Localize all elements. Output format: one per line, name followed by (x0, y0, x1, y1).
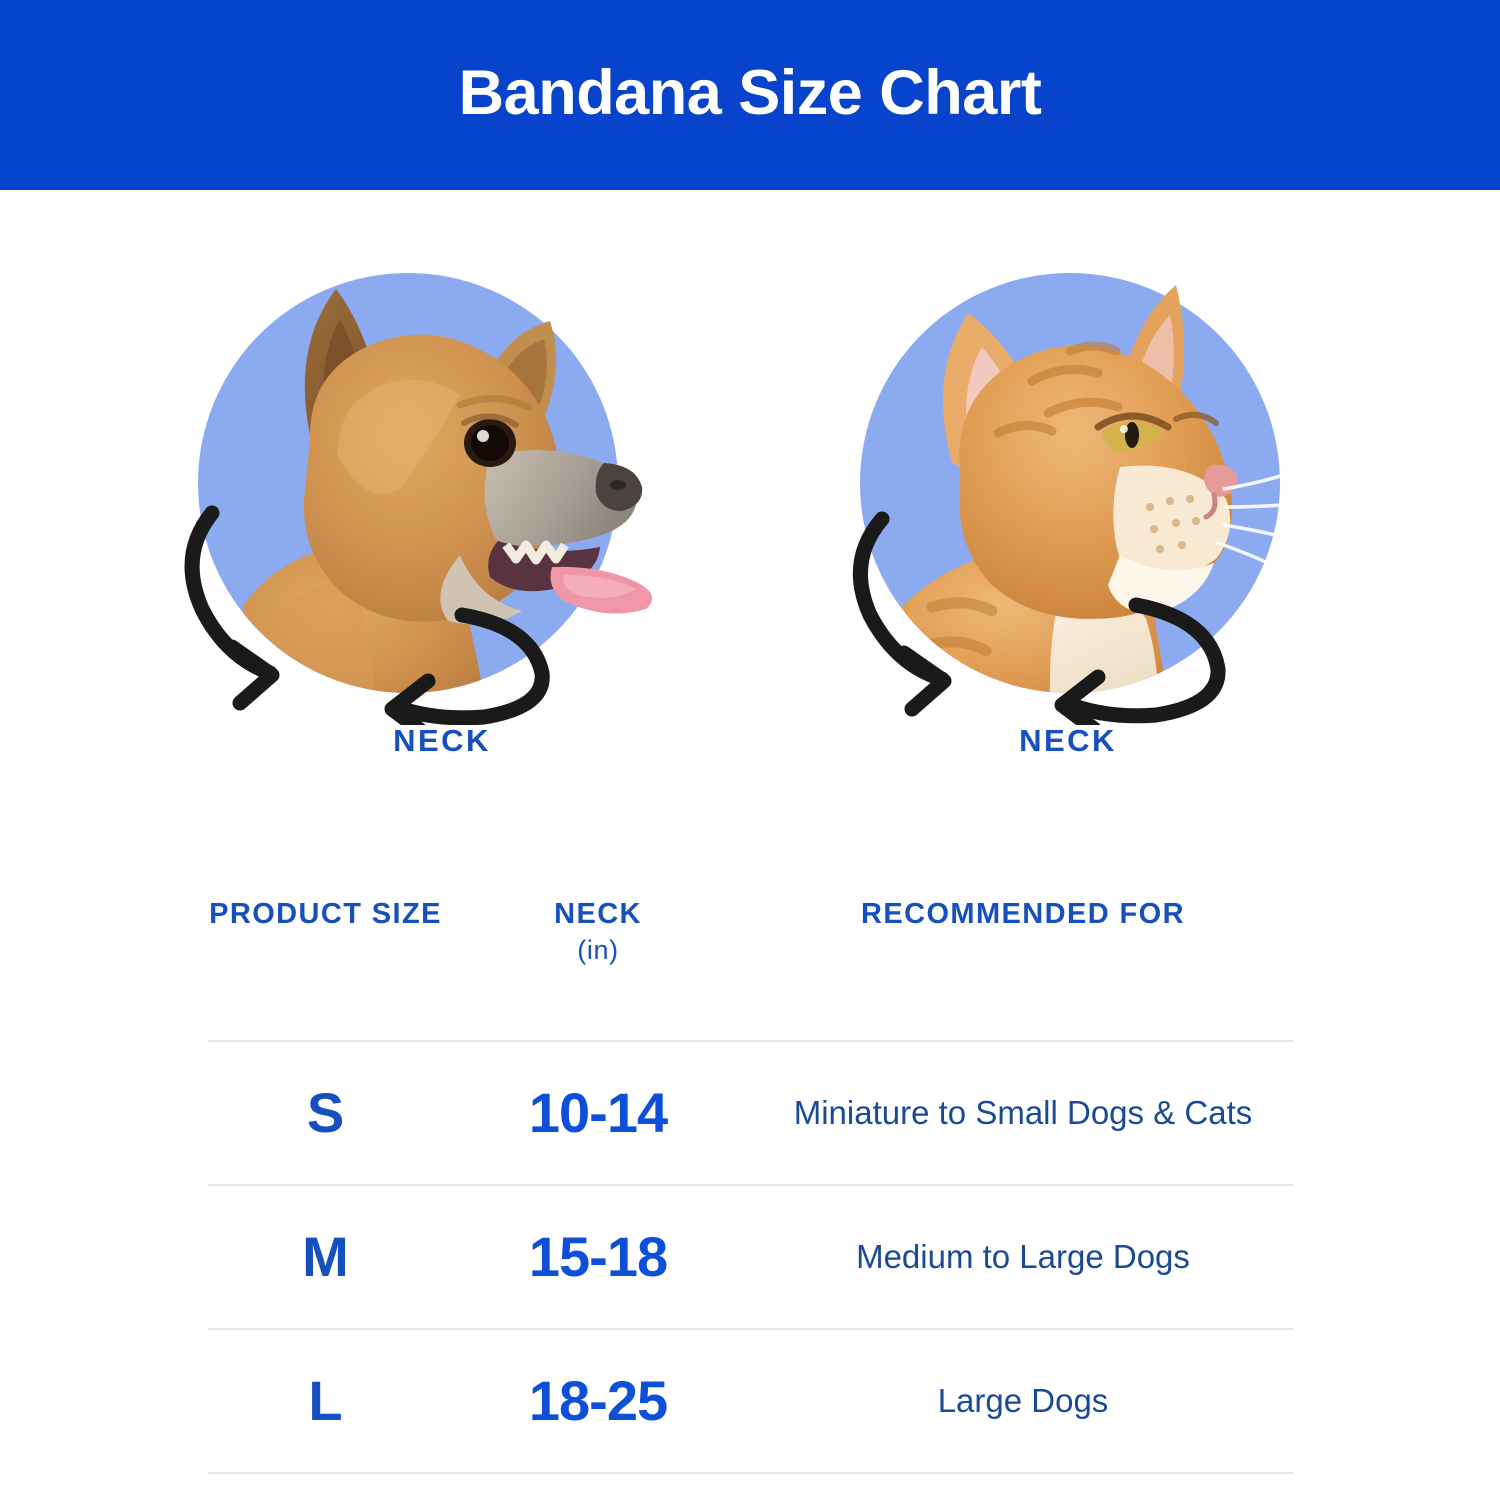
cat-head-profile-icon (820, 255, 1340, 725)
table-row: S 10-14 Miniature to Small Dogs & Cats (208, 1042, 1293, 1184)
table-header-row: PRODUCT SIZE NECK (in) RECOMMENDED FOR (208, 890, 1293, 1040)
header-banner: Bandana Size Chart (0, 0, 1500, 190)
cell-product-size: M (208, 1229, 443, 1285)
value-product-size: S (307, 1085, 344, 1141)
header-label-product-size: PRODUCT SIZE (209, 896, 442, 933)
value-recommended-for: Miniature to Small Dogs & Cats (776, 1092, 1271, 1135)
header-cell-neck: NECK (in) (443, 890, 753, 1046)
value-recommended-for: Medium to Large Dogs (838, 1236, 1208, 1279)
cell-product-size: S (208, 1085, 443, 1141)
cell-product-size: L (208, 1373, 443, 1429)
header-cell-product-size: PRODUCT SIZE (208, 890, 443, 1046)
dog-neck-label: NECK (182, 723, 702, 759)
cell-neck: 10-14 (443, 1085, 753, 1141)
cell-neck: 15-18 (443, 1229, 753, 1285)
header-cell-recommended-for: RECOMMENDED FOR (753, 890, 1293, 1046)
cell-neck: 18-25 (443, 1373, 753, 1429)
cat-neck-label: NECK (808, 723, 1328, 759)
table-divider (208, 1472, 1293, 1474)
value-neck: 10-14 (529, 1085, 667, 1141)
header-label-recommended-for: RECOMMENDED FOR (861, 896, 1185, 933)
value-neck: 15-18 (529, 1229, 667, 1285)
illustration-row: NECK (0, 255, 1500, 815)
cat-illustration-block: NECK (820, 255, 1340, 815)
cell-recommended-for: Medium to Large Dogs (753, 1236, 1293, 1279)
cell-recommended-for: Miniature to Small Dogs & Cats (753, 1092, 1293, 1135)
dog-illustration-block: NECK (160, 255, 680, 815)
table-row: L 18-25 Large Dogs (208, 1330, 1293, 1472)
size-table: PRODUCT SIZE NECK (in) RECOMMENDED FOR S… (208, 890, 1293, 1474)
value-product-size: L (308, 1373, 342, 1429)
table-row: M 15-18 Medium to Large Dogs (208, 1186, 1293, 1328)
value-product-size: M (302, 1229, 349, 1285)
cell-recommended-for: Large Dogs (753, 1380, 1293, 1423)
header-label-neck-unit: (in) (554, 933, 642, 967)
header-label-neck-text: NECK (554, 898, 642, 930)
value-recommended-for: Large Dogs (920, 1380, 1127, 1423)
page-title: Bandana Size Chart (459, 62, 1042, 125)
value-neck: 18-25 (529, 1373, 667, 1429)
header-label-neck: NECK (in) (554, 896, 642, 967)
dog-head-profile-icon (160, 255, 680, 725)
